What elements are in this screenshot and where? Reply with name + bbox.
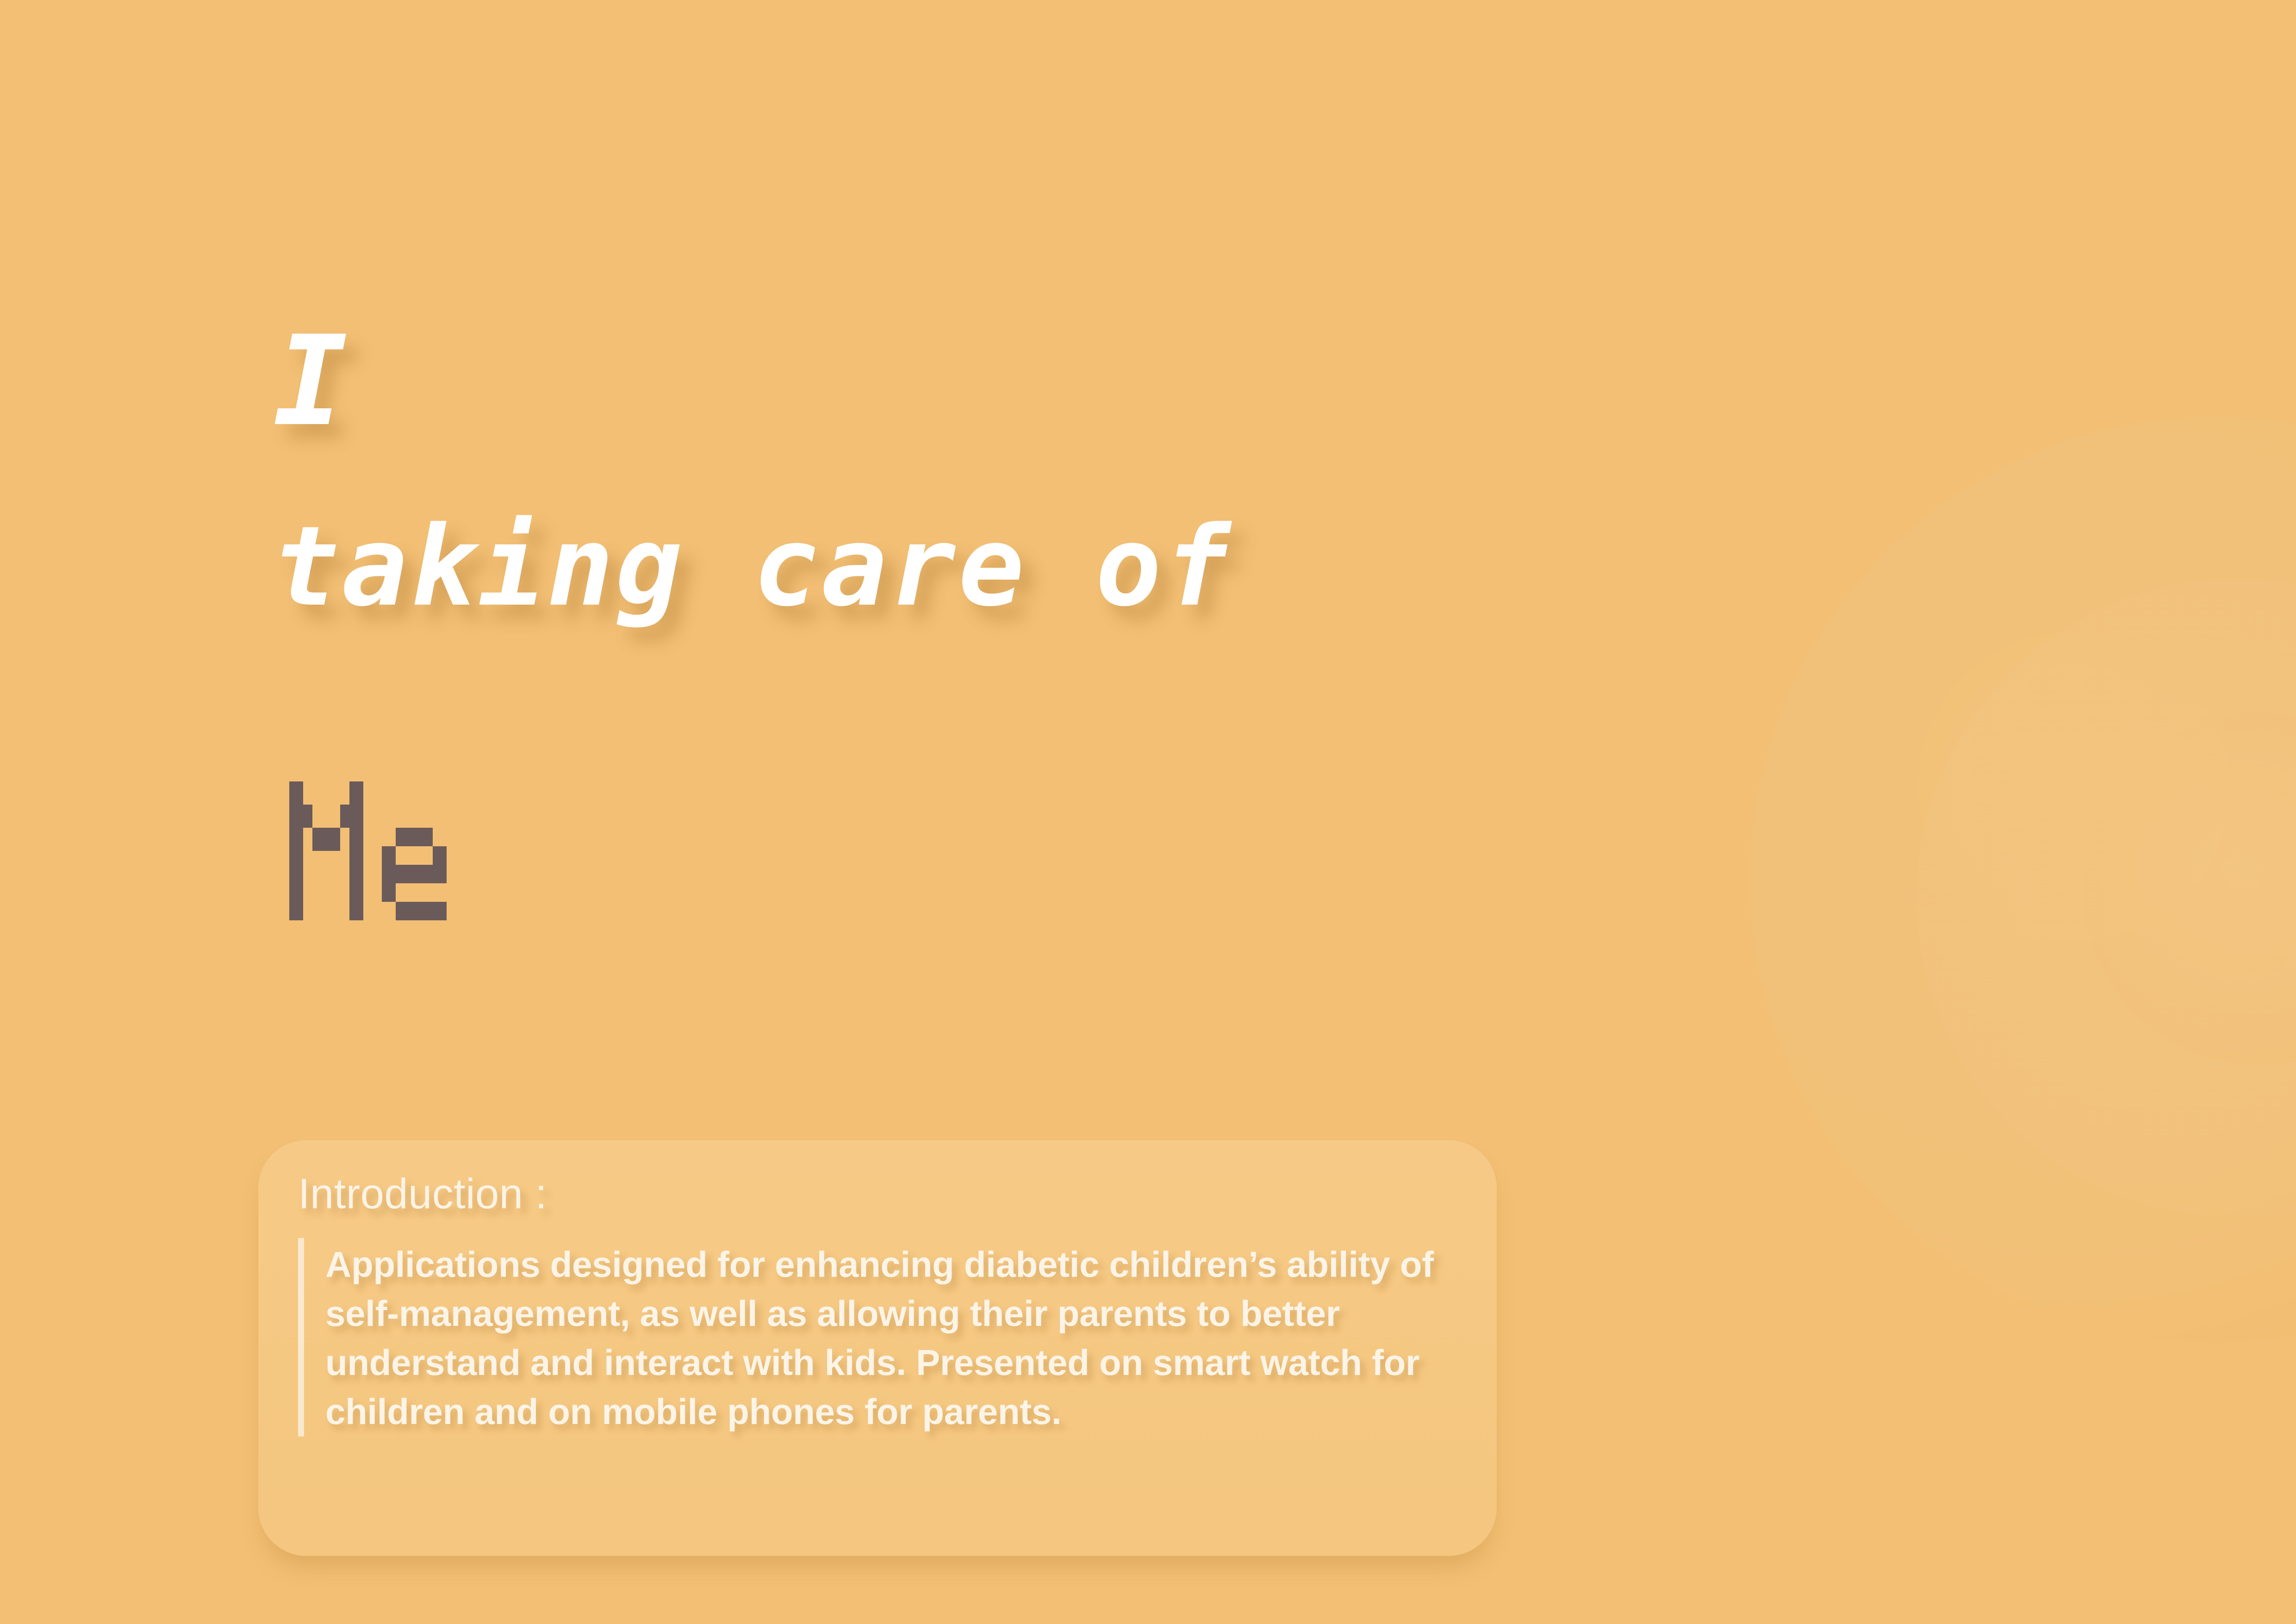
- title-block: I taking care of: [273, 319, 1847, 636]
- introduction-heading: Introduction :: [298, 1171, 1455, 1218]
- introduction-card: Introduction : Applications designed for…: [258, 1140, 1497, 1556]
- introduction-body-text: Applications designed for enhancing diab…: [325, 1238, 1455, 1436]
- accent-bar: [298, 1238, 304, 1436]
- title-line-three-pixel-word: [289, 781, 548, 920]
- background-circle-middle: [1916, 579, 2296, 1218]
- introduction-body-wrapper: Applications designed for enhancing diab…: [298, 1238, 1455, 1436]
- slide-canvas: I taking care of: [0, 0, 2296, 1624]
- title-line-one: I: [273, 319, 1847, 458]
- title-line-two: taking care of: [273, 512, 1847, 636]
- background-circle-inner: [2083, 713, 2296, 1065]
